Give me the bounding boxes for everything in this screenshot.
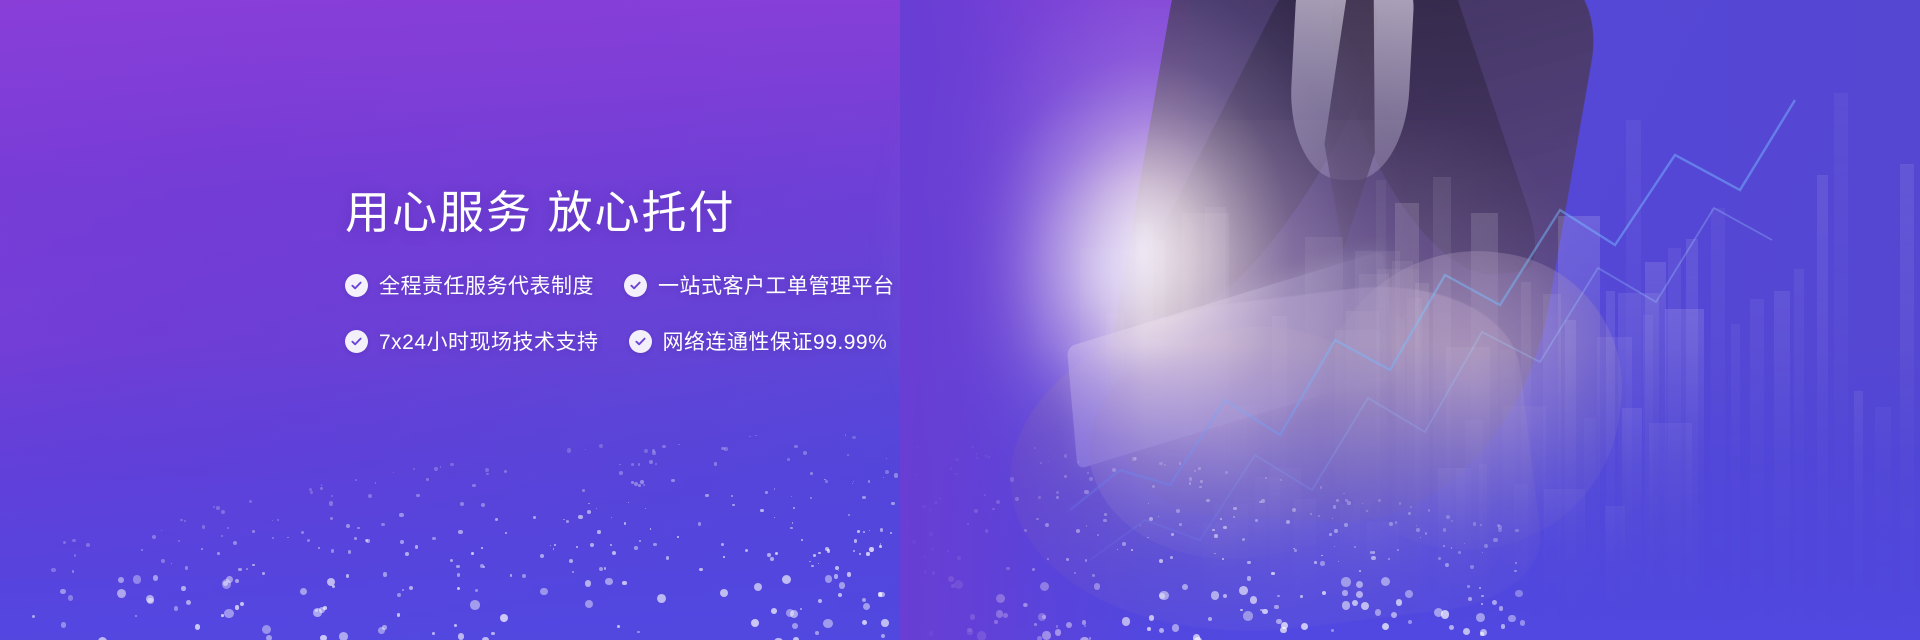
feature-row: 7x24小时现场技术支持 网络连通性保证99.99%: [345, 326, 895, 356]
check-circle-icon: [345, 274, 368, 297]
check-circle-icon: [629, 330, 652, 353]
feature-label: 一站式客户工单管理平台: [658, 270, 895, 300]
feature-row: 全程责任服务代表制度 一站式客户工单管理平台: [345, 270, 895, 300]
check-circle-icon: [624, 274, 647, 297]
feature-label: 7x24小时现场技术支持: [379, 326, 599, 356]
feature-list: 全程责任服务代表制度 一站式客户工单管理平台 7x24小时现场技术支持: [345, 270, 895, 356]
page-title: 用心服务 放心托付: [345, 176, 736, 241]
feature-item[interactable]: 7x24小时现场技术支持: [345, 326, 599, 356]
feature-label: 网络连通性保证99.99%: [663, 326, 888, 356]
feature-item[interactable]: 全程责任服务代表制度: [345, 270, 594, 300]
check-circle-icon: [345, 330, 368, 353]
particle-dot-field: [0, 400, 1920, 640]
feature-item[interactable]: 网络连通性保证99.99%: [629, 326, 888, 356]
hero-banner: 用心服务 放心托付 全程责任服务代表制度 一站式客户工单管理平台: [0, 0, 1920, 640]
feature-label: 全程责任服务代表制度: [379, 270, 594, 300]
feature-item[interactable]: 一站式客户工单管理平台: [624, 270, 895, 300]
